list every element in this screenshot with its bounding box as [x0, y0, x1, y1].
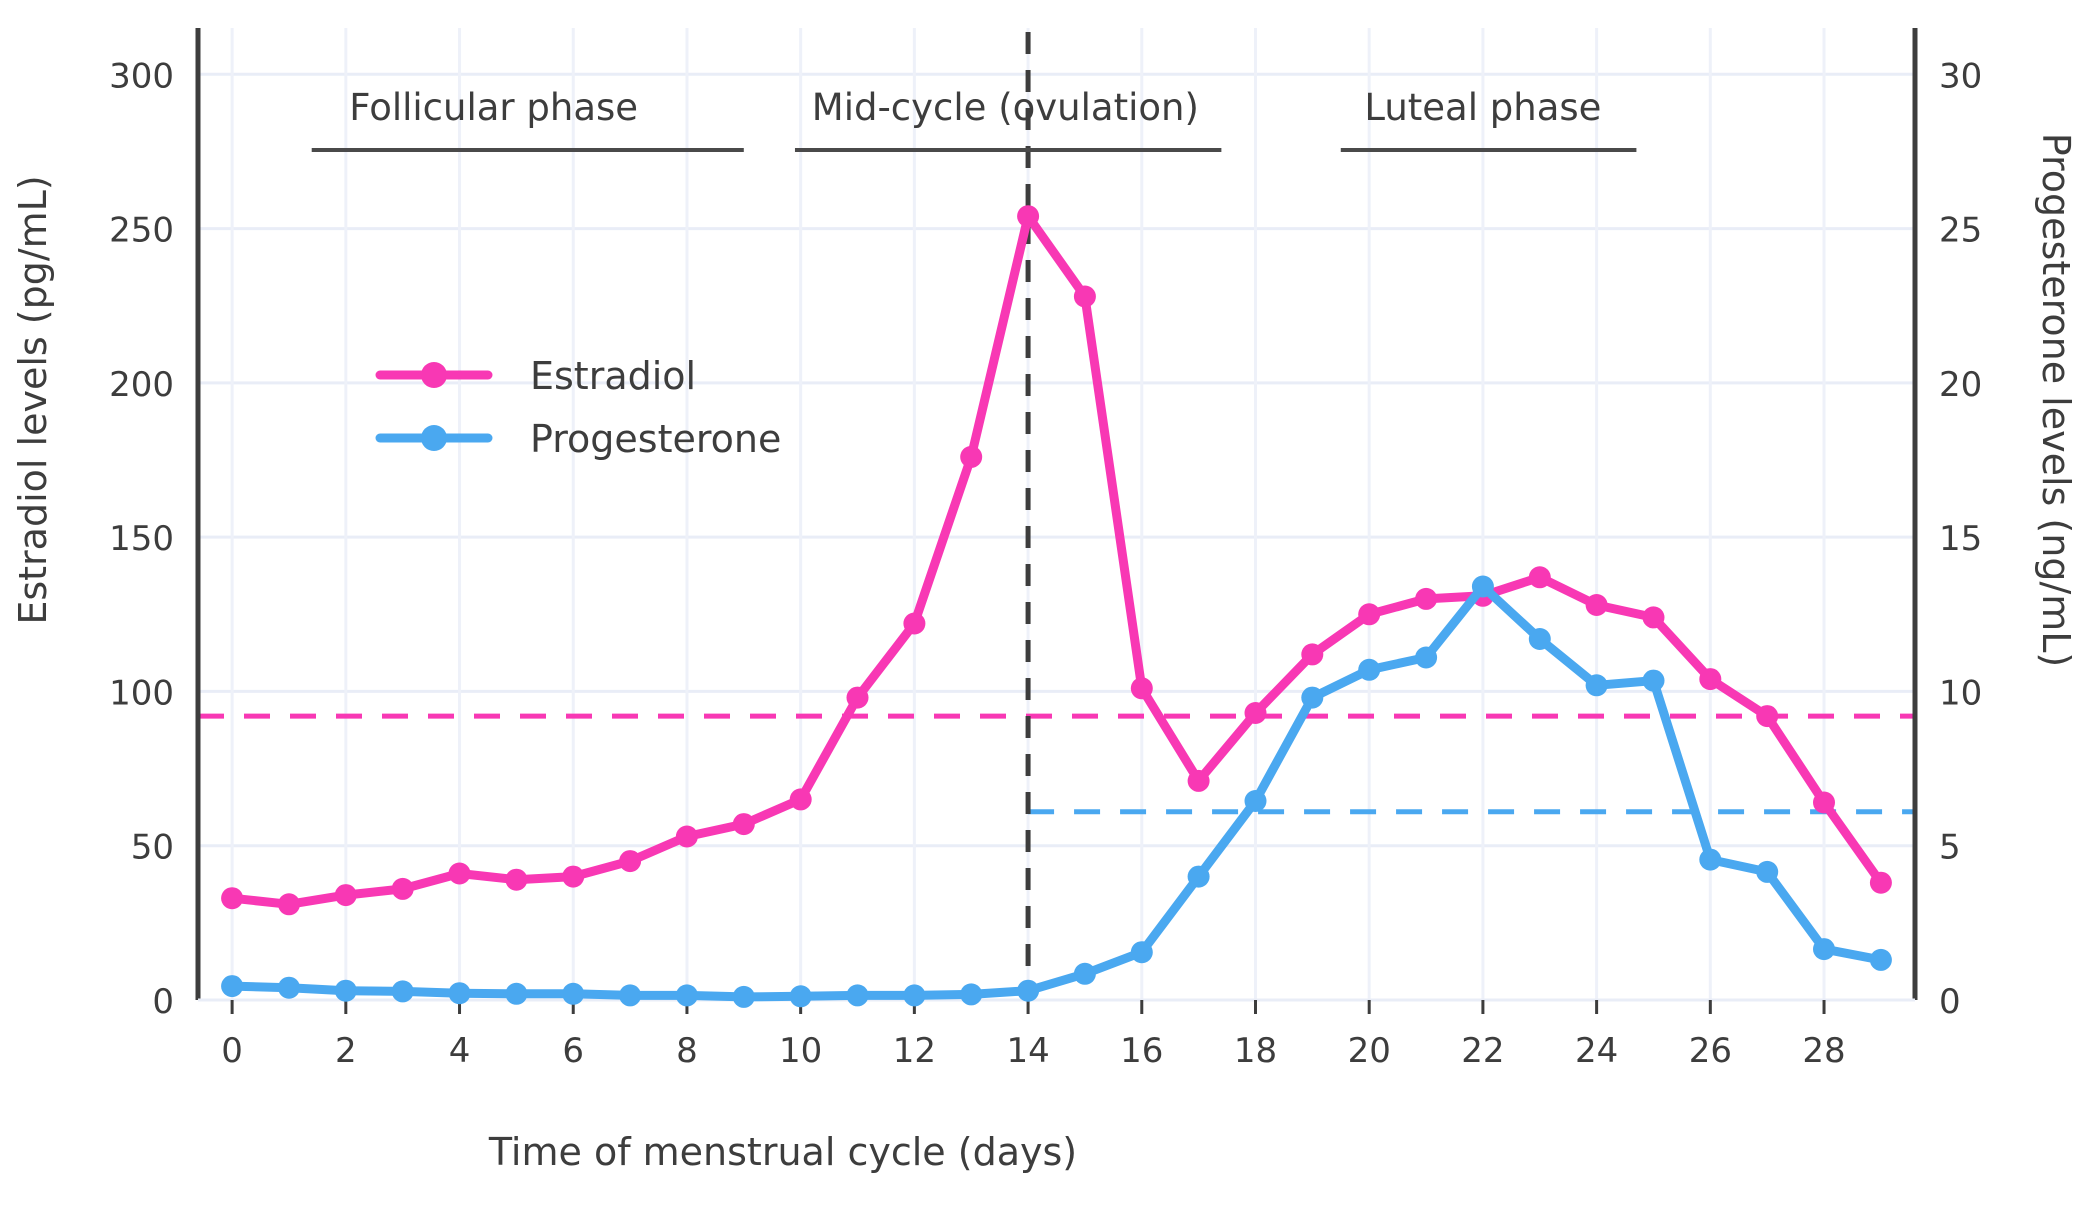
data-point [1074, 286, 1096, 308]
phase-annotation-label: Mid-cycle (ovulation) [812, 86, 1199, 129]
y-axis-left-tick-label: 150 [109, 519, 174, 559]
x-axis-tick-label: 18 [1234, 1031, 1277, 1071]
data-point [1529, 566, 1551, 588]
data-point [392, 980, 414, 1002]
data-point [392, 878, 414, 900]
data-point [847, 687, 869, 709]
data-point [1472, 576, 1494, 598]
x-axis-tick-label: 6 [562, 1031, 584, 1071]
y-axis-right-tick-label: 5 [1939, 828, 1961, 868]
data-point [449, 863, 471, 885]
series-line [232, 216, 1881, 904]
y-axis-left-tick-label: 100 [109, 673, 174, 713]
data-point [676, 984, 698, 1006]
x-axis-tick-label: 26 [1689, 1031, 1732, 1071]
x-axis-tick-label: 28 [1802, 1031, 1845, 1071]
data-point [1586, 594, 1608, 616]
x-axis-tick-label: 2 [335, 1031, 357, 1071]
x-axis-tick-label: 4 [449, 1031, 471, 1071]
y-axis-left-tick-label: 50 [131, 828, 174, 868]
y-axis-left-tick-labels: 050100150200250300 [109, 56, 174, 1022]
data-point [1017, 205, 1039, 227]
series-estradiol [221, 205, 1892, 915]
reference-lines [198, 716, 1915, 812]
y-axis-right-tick-label: 25 [1939, 211, 1982, 251]
data-point [1358, 659, 1380, 681]
data-point [1756, 705, 1778, 727]
data-point [1699, 668, 1721, 690]
y-axis-right-title: Progesterone levels (ng/mL) [2034, 133, 2077, 668]
data-point [1813, 938, 1835, 960]
x-axis-tick-label: 14 [1006, 1031, 1049, 1071]
phase-annotation-label: Follicular phase [349, 86, 638, 129]
data-point [335, 884, 357, 906]
data-point [1643, 670, 1665, 692]
data-point [1358, 603, 1380, 625]
x-axis-tick-label: 8 [676, 1031, 698, 1071]
y-axis-left-tick-label: 0 [152, 982, 174, 1022]
data-point [1643, 606, 1665, 628]
data-point [847, 984, 869, 1006]
data-point [1188, 866, 1210, 888]
x-axis-tick-label: 0 [221, 1031, 243, 1071]
chart-figure: 050100150200250300 051015202530 02468101… [0, 0, 2077, 1208]
data-point [1529, 628, 1551, 650]
data-point [619, 984, 641, 1006]
y-axis-right-tick-label: 0 [1939, 982, 1961, 1022]
y-axis-left-tick-label: 300 [109, 56, 174, 96]
y-axis-right-tick-label: 30 [1939, 56, 1982, 96]
x-axis-tick-label: 24 [1575, 1031, 1618, 1071]
x-axis-tick-labels: 0246810121416182022242628 [221, 1031, 1845, 1071]
y-axis-right-tick-labels: 051015202530 [1939, 56, 1982, 1022]
x-axis-title: Time of menstrual cycle (days) [488, 1130, 1077, 1174]
data-point [1813, 792, 1835, 814]
legend-label: Estradiol [530, 354, 696, 398]
y-axis-left-tick-label: 200 [109, 365, 174, 405]
data-point [1870, 949, 1892, 971]
gridlines [198, 28, 1915, 1000]
y-axis-left-tick-label: 250 [109, 211, 174, 251]
y-axis-right-tick-label: 20 [1939, 365, 1982, 405]
data-point [221, 887, 243, 909]
data-point [335, 980, 357, 1002]
legend-label: Progesterone [530, 417, 781, 461]
data-point [1131, 677, 1153, 699]
data-point [1245, 790, 1267, 812]
y-axis-right-tick-label: 15 [1939, 519, 1982, 559]
data-point [1074, 963, 1096, 985]
data-point [1870, 872, 1892, 894]
data-point [1415, 647, 1437, 669]
data-point [790, 788, 812, 810]
phase-annotation-label: Luteal phase [1364, 86, 1601, 129]
data-point [1586, 674, 1608, 696]
data-point [676, 826, 698, 848]
x-axis-tick-label: 20 [1348, 1031, 1391, 1071]
data-point [1017, 980, 1039, 1002]
data-point [1756, 861, 1778, 883]
data-point [505, 983, 527, 1005]
data-point [449, 982, 471, 1004]
data-point [1301, 687, 1323, 709]
data-point [1245, 702, 1267, 724]
series-line [232, 587, 1881, 997]
x-axis-tick-label: 16 [1120, 1031, 1163, 1071]
data-point [562, 866, 584, 888]
phase-annotations: Follicular phaseMid-cycle (ovulation)Lut… [312, 86, 1637, 150]
legend-point-marker [421, 425, 447, 451]
data-point [278, 893, 300, 915]
legend-point-marker [421, 362, 447, 388]
data-point [619, 850, 641, 872]
data-point [505, 869, 527, 891]
series-progesterone [221, 576, 1892, 1008]
data-point [1131, 941, 1153, 963]
data-point [903, 984, 925, 1006]
y-axis-left-title: Estradiol levels (pg/mL) [11, 175, 55, 624]
data-point [960, 983, 982, 1005]
y-axis-right-tick-label: 10 [1939, 673, 1982, 713]
data-point [790, 985, 812, 1007]
data-point [1415, 588, 1437, 610]
x-axis-tick-label: 12 [893, 1031, 936, 1071]
data-point [1188, 770, 1210, 792]
data-point [562, 983, 584, 1005]
x-axis-tick-label: 10 [779, 1031, 822, 1071]
data-point [278, 977, 300, 999]
data-point [733, 813, 755, 835]
data-point [1699, 849, 1721, 871]
series-lines [221, 205, 1892, 1008]
legend: EstradiolProgesterone [380, 354, 781, 461]
data-point [733, 986, 755, 1008]
data-point [221, 975, 243, 997]
hormone-levels-line-chart: 050100150200250300 051015202530 02468101… [0, 0, 2077, 1208]
tick-marks [232, 1000, 1824, 1014]
x-axis-tick-label: 22 [1461, 1031, 1504, 1071]
data-point [960, 446, 982, 468]
data-point [1301, 643, 1323, 665]
data-point [903, 613, 925, 635]
axis-spines [198, 28, 1915, 1000]
